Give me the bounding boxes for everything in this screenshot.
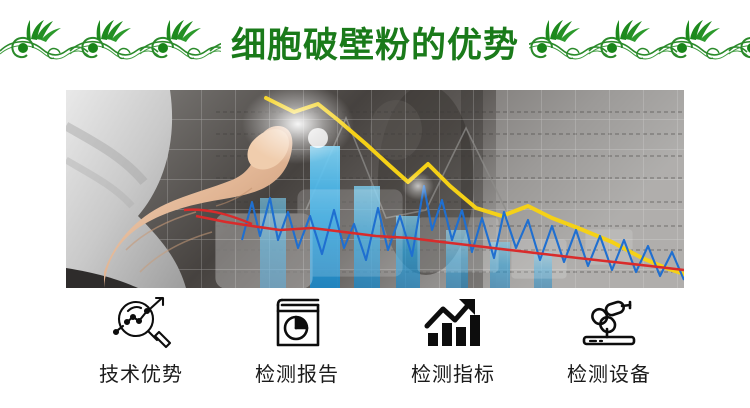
book-pie-chart-icon <box>269 295 325 351</box>
feature-technical-advantage[interactable]: 技术优势 <box>66 295 216 385</box>
floral-scroll-ornament-right <box>529 17 750 73</box>
feature-row: 技术优势 检测 <box>66 295 684 400</box>
feature-label: 检测报告 <box>255 365 339 385</box>
magnifier-line-chart-icon <box>110 295 172 351</box>
feature-test-indicators[interactable]: 检测指标 <box>378 295 528 385</box>
feature-label: 技术优势 <box>99 365 183 385</box>
promo-banner-page: 细胞破壁粉的优势 <box>0 0 750 408</box>
feature-label: 检测指标 <box>411 365 495 385</box>
page-title: 细胞破壁粉的优势 <box>227 28 523 63</box>
hero-image <box>66 90 684 288</box>
feature-test-equipment[interactable]: 检测设备 <box>534 295 684 385</box>
robotic-arm-icon <box>578 295 640 351</box>
floral-scroll-ornament-left <box>0 17 221 73</box>
bar-chart-arrow-up-icon <box>424 295 482 351</box>
header: 细胞破壁粉的优势 <box>0 0 750 90</box>
feature-test-report[interactable]: 检测报告 <box>222 295 372 385</box>
feature-label: 检测设备 <box>567 365 651 385</box>
